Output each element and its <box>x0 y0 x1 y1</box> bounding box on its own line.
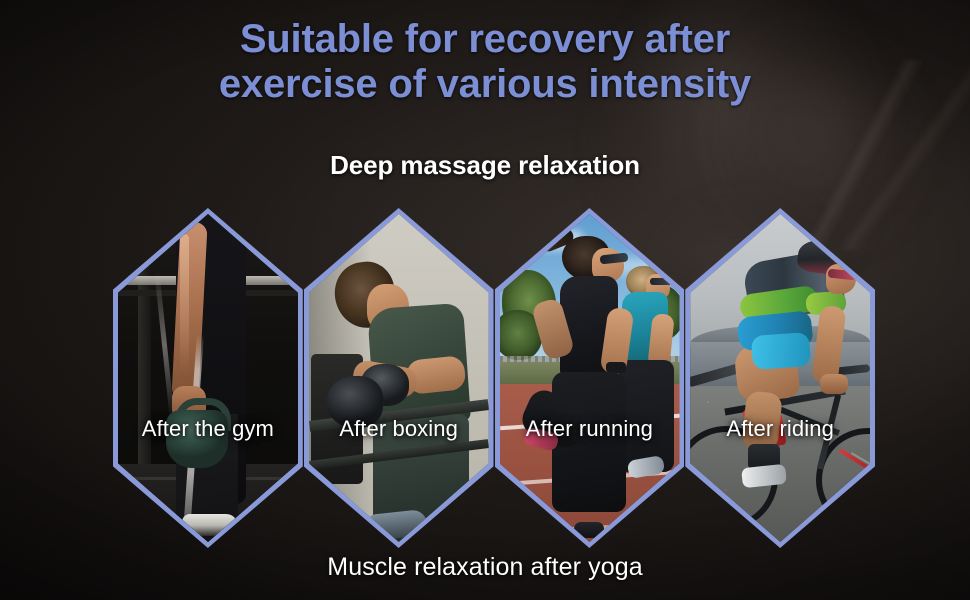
promo-poster: Suitable for recovery after exercise of … <box>0 0 970 600</box>
page-title: Suitable for recovery after exercise of … <box>0 17 970 107</box>
use-case-hexagon-row: After the gym <box>113 208 875 548</box>
use-case-card-boxing: After boxing <box>304 208 494 548</box>
use-case-card-running: After running <box>495 208 685 548</box>
caption-bottom: Muscle relaxation after yoga <box>0 553 970 582</box>
hexagon-label-boxing: After boxing <box>292 416 506 442</box>
page-title-line-1: Suitable for recovery after <box>0 17 970 62</box>
use-case-card-riding: After riding <box>685 208 875 548</box>
hexagon-label-riding: After riding <box>673 416 887 442</box>
use-case-card-gym: After the gym <box>113 208 303 548</box>
page-title-line-2: exercise of various intensity <box>0 62 970 107</box>
hexagon-label-gym: After the gym <box>101 416 315 442</box>
hexagon-label-running: After running <box>483 416 697 442</box>
caption-top: Deep massage relaxation <box>0 150 970 181</box>
